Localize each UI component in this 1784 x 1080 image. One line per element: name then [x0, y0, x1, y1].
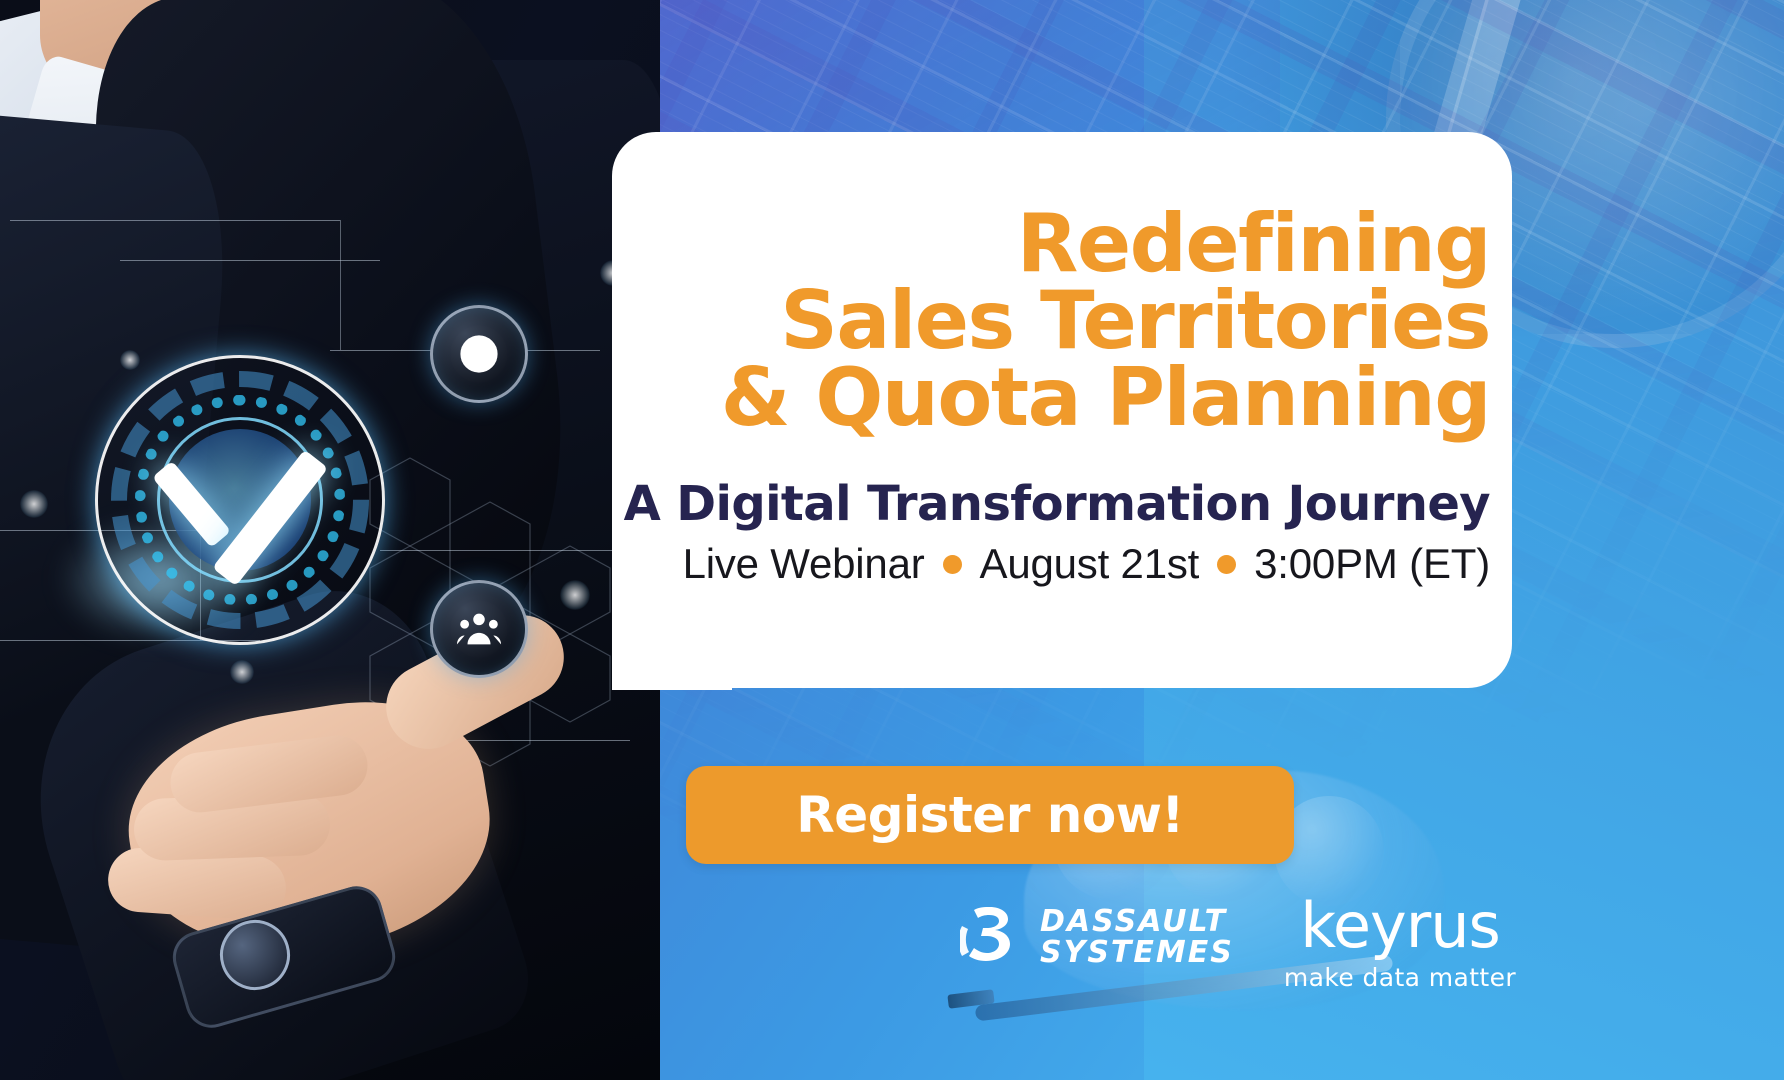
register-now-label: Register now!: [796, 786, 1183, 844]
webinar-details: Live Webinar August 21st 3:00PM (ET): [620, 540, 1490, 588]
dassault-systemes-logo: DASSAULT SYSTEMES: [960, 903, 1234, 973]
webinar-time: 3:00PM (ET): [1254, 540, 1490, 588]
bullet-dot-icon: [1217, 555, 1236, 574]
dassault-line-2: SYSTEMES: [1040, 938, 1234, 969]
dassault-wordmark: DASSAULT SYSTEMES: [1040, 907, 1234, 968]
businessman-photo: [0, 0, 660, 1080]
title-line-2: Sales Territories: [640, 283, 1490, 360]
title-line-1: Redefining: [640, 206, 1490, 283]
webinar-promo-banner: Redefining Sales Territories & Quota Pla…: [0, 0, 1784, 1080]
page-subtitle: A Digital Transformation Journey: [620, 476, 1490, 532]
holographic-checkmark-hud: [95, 355, 385, 645]
globe-icon: [430, 305, 528, 403]
keyrus-logo: keyrus make data matter: [1280, 895, 1520, 992]
checkmark-icon: [147, 425, 333, 545]
keyrus-tagline: make data matter: [1280, 963, 1520, 992]
dassault-line-1: DASSAULT: [1040, 907, 1234, 938]
bullet-dot-icon: [943, 555, 962, 574]
title-line-3: & Quota Planning: [640, 360, 1490, 437]
register-now-button[interactable]: Register now!: [686, 766, 1294, 864]
people-icon: [430, 580, 528, 678]
3ds-compass-icon: [960, 903, 1026, 973]
keyrus-wordmark: keyrus: [1280, 895, 1520, 957]
webinar-date: August 21st: [980, 540, 1200, 588]
partner-logos: DASSAULT SYSTEMES keyrus make data matte…: [960, 895, 1740, 1015]
page-title: Redefining Sales Territories & Quota Pla…: [640, 206, 1490, 436]
webinar-format: Live Webinar: [683, 540, 925, 588]
